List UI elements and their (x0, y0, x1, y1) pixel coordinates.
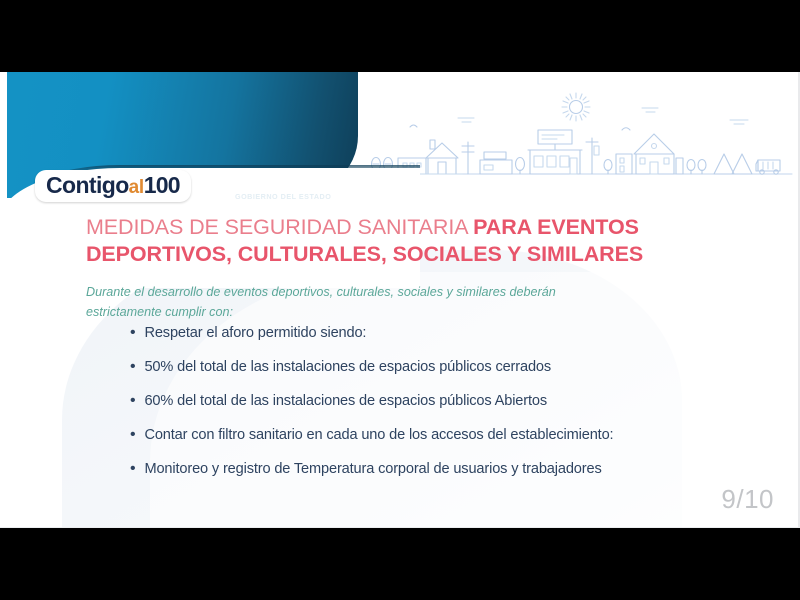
list-item: • Contar con filtro sanitario en cada un… (130, 426, 750, 445)
government-emblem: AGUASCALIENTES GOBIERNO DEL ESTADO (200, 168, 359, 212)
slide-page-indicator: 9/10 (721, 484, 774, 515)
list-item: • 60% del total de las instalaciones de … (130, 392, 750, 411)
bullet-marker-icon: • (130, 324, 135, 342)
government-name: AGUASCALIENTES (235, 179, 359, 192)
list-item: • Monitoreo y registro de Temperatura co… (130, 460, 750, 479)
bullet-marker-icon: • (130, 426, 135, 444)
coat-of-arms-icon (200, 168, 228, 212)
slide-intro-text: Durante el desarrollo de eventos deporti… (86, 283, 626, 322)
slide-title: MEDIDAS DE SEGURIDAD SANITARIA PARA EVEN… (86, 214, 726, 268)
logo-text-contigo: Contigo (46, 172, 129, 198)
city-skyline-illustration (358, 80, 798, 192)
slide-left-margin (0, 72, 7, 222)
list-item-label: Contar con filtro sanitario en cada uno … (144, 426, 613, 445)
list-item-label: Respetar el aforo permitido siendo: (144, 324, 366, 343)
logo-text-100: 100 (144, 172, 180, 198)
government-subtitle: GOBIERNO DEL ESTADO (235, 193, 359, 201)
letterbox-bar-top (0, 0, 800, 72)
bullet-list: • Respetar el aforo permitido siendo: • … (130, 324, 750, 494)
logo-text-al: al (129, 177, 144, 198)
list-item-label: Monitoreo y registro de Temperatura corp… (144, 460, 601, 479)
list-item-label: 60% del total de las instalaciones de es… (144, 392, 547, 411)
list-item: • 50% del total de las instalaciones de … (130, 358, 750, 377)
bullet-marker-icon: • (130, 392, 135, 410)
list-item: • Respetar el aforo permitido siendo: (130, 324, 750, 343)
slide-title-regular: MEDIDAS DE SEGURIDAD SANITARIA (86, 215, 473, 239)
video-player-viewport: Contigoal100 AGUASCALIENTES GOBIERNO DEL… (0, 0, 800, 600)
contigo-al-100-logo: Contigoal100 (35, 170, 191, 202)
list-item-label: 50% del total de las instalaciones de es… (144, 358, 551, 377)
presentation-slide: Contigoal100 AGUASCALIENTES GOBIERNO DEL… (0, 72, 800, 528)
bullet-marker-icon: • (130, 358, 135, 376)
letterbox-bar-bottom (0, 528, 800, 600)
bullet-marker-icon: • (130, 460, 135, 478)
